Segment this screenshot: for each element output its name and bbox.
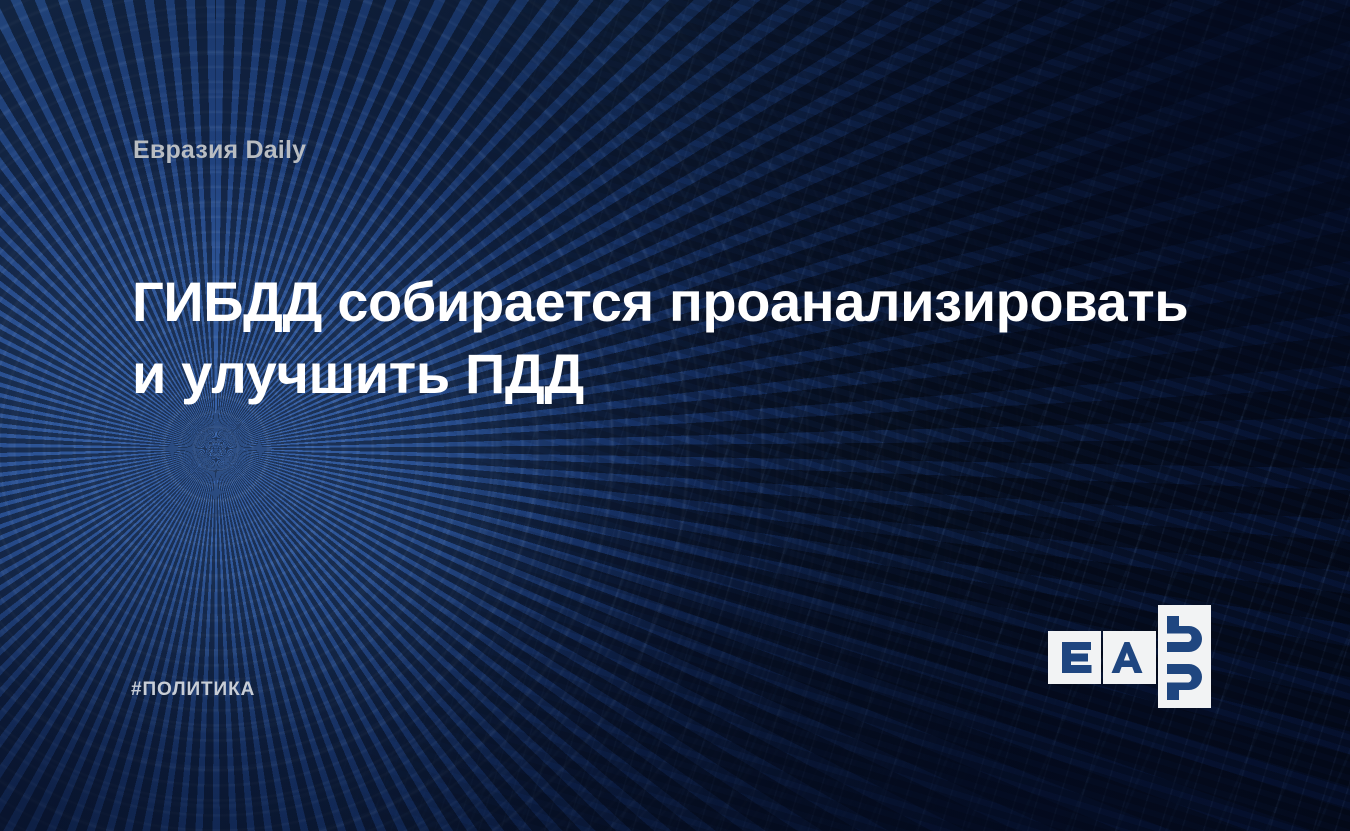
publisher-brand-label: Евразия Daily [133,136,306,165]
logo-tile-d [1158,605,1211,708]
category-tag[interactable]: #ПОЛИТИКА [131,679,255,701]
social-share-card: Евразия Daily ГИБДД собирается проанализ… [0,0,1350,831]
logo-tile-a [1103,631,1156,684]
article-headline: ГИБДД собирается проанализировать и улуч… [132,266,1202,409]
card-content: Евразия Daily ГИБДД собирается проанализ… [0,0,1350,831]
logo-tile-e [1048,631,1101,684]
eadaily-logo[interactable] [1046,604,1222,708]
